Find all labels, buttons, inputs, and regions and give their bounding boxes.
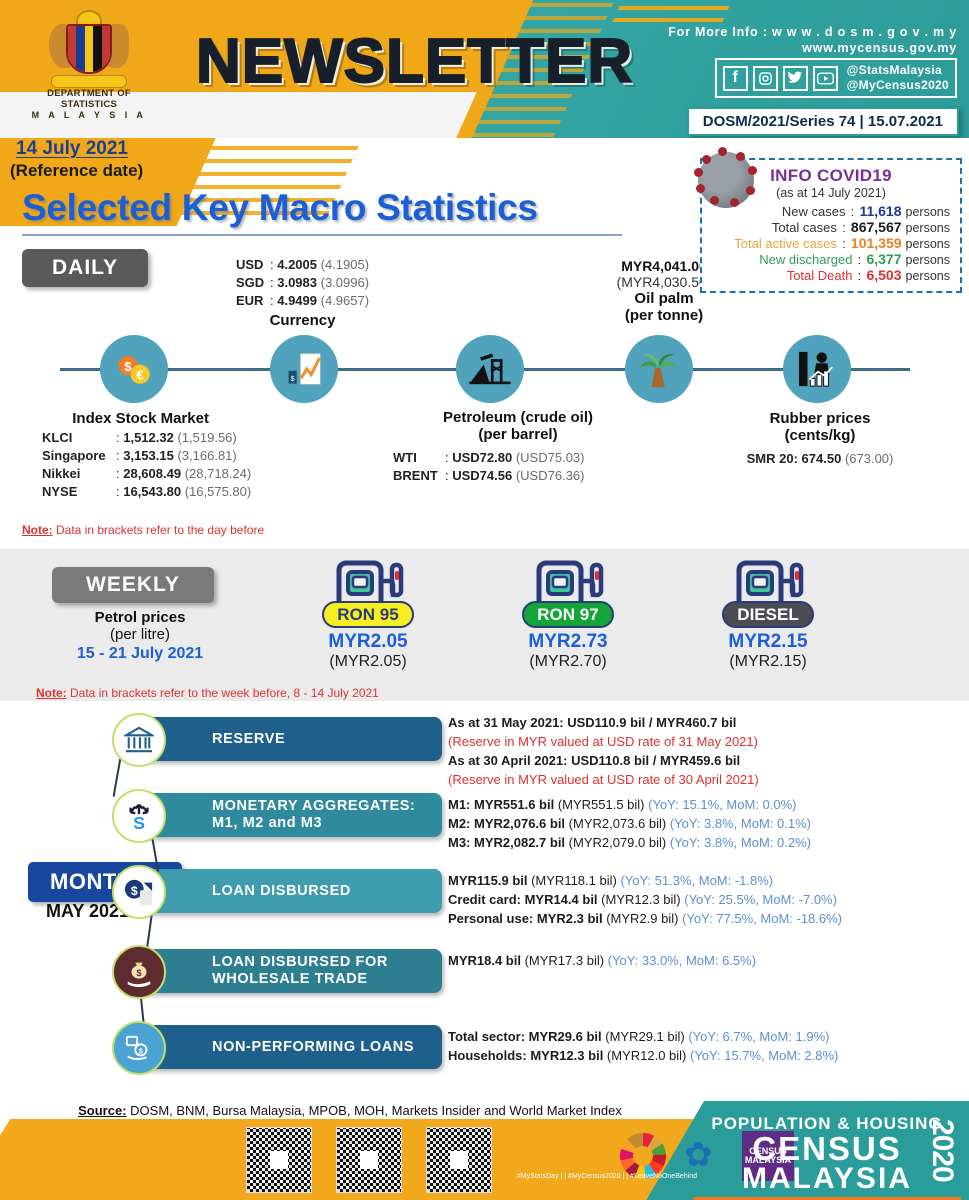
census-year: 2020 (925, 1119, 959, 1182)
covid-row: Total active cases:101,359persons (712, 235, 950, 251)
covid-row-unit: persons (906, 237, 950, 251)
value-change: (YoY: 51.3%, MoM: -1.8%) (617, 873, 773, 888)
metric-label: WTI (393, 449, 445, 467)
value-previous: (MYR2,073.6 bil) (565, 816, 666, 831)
value-bold: Credit card: MYR14.4 bil (448, 892, 598, 907)
value-previous: (MYR551.5 bil) (554, 797, 644, 812)
covid-row-value: 11,618 (859, 203, 901, 219)
metric-label: Nikkei (42, 465, 116, 483)
metric-previous: (USD76.36) (516, 468, 585, 483)
monthly-value-line: Personal use: MYR2.3 bil (MYR2.9 bil) (Y… (448, 909, 842, 928)
rubber-heading-1: Rubber prices (700, 410, 940, 427)
more-info-line2: www.mycensus.gov.my (668, 40, 957, 56)
petroleum-heading-1: Petroleum (crude oil) (393, 409, 643, 426)
metric-row: SGD: 3.0983 (3.0996) (236, 274, 369, 292)
svg-text:€: € (136, 368, 144, 383)
metric-label: EUR (236, 292, 270, 310)
monthly-value-line: MYR115.9 bil (MYR118.1 bil) (YoY: 51.3%,… (448, 871, 842, 890)
youtube-icon[interactable] (813, 66, 838, 91)
metric-label: NYSE (42, 483, 116, 501)
monthly-item-values: MYR18.4 bil (MYR17.3 bil) (YoY: 33.0%, M… (448, 951, 756, 970)
value-previous: (MYR29.1 bil) (602, 1029, 685, 1044)
fuel-type-pill: RON 95 (322, 601, 414, 628)
covid-row-label: Total Death (787, 268, 853, 283)
covid-row-value: 101,359 (851, 235, 902, 251)
value-bold: Households: MYR12.3 bil (448, 1048, 603, 1063)
qr-code-dosm[interactable] (246, 1127, 312, 1193)
census-line2: CENSUS (693, 1133, 961, 1164)
weekly-badge: WEEKLY (52, 567, 214, 603)
monthly-item-values: M1: MYR551.6 bil (MYR551.5 bil) (YoY: 15… (448, 795, 811, 852)
metric-label: KLCI (42, 429, 116, 447)
source-line: Source: DOSM, BNM, Bursa Malaysia, MPOB,… (0, 1103, 700, 1118)
metric-previous: (4.1905) (321, 257, 369, 272)
petrol-title-2: (per litre) (40, 626, 240, 643)
metric-row: WTI: USD72.80 (USD75.03) (393, 449, 643, 467)
metric-value: 4.2005 (277, 257, 317, 272)
value-previous: (MYR2,079.0 bil) (565, 835, 666, 850)
fuel-price-card: RON 95MYR2.05(MYR2.05) (320, 559, 416, 671)
page-footer: Source: DOSM, BNM, Bursa Malaysia, MPOB,… (0, 1101, 969, 1200)
value-change: (YoY: 15.7%, MoM: 2.8%) (686, 1048, 838, 1063)
value-previous: (MYR12.3 bil) (598, 892, 681, 907)
monthly-item-pill[interactable]: LOAN DISBURSED (140, 869, 442, 913)
weekly-note: Note: Data in brackets refer to the week… (36, 686, 379, 700)
monthly-item-values: Total sector: MYR29.6 bil (MYR29.1 bil) … (448, 1027, 838, 1065)
source-text: DOSM, BNM, Bursa Malaysia, MPOB, MOH, Ma… (127, 1103, 622, 1118)
census-2020-logo: POPULATION & HOUSING CENSUS MALAYSIA YOU… (693, 1115, 961, 1200)
fuel-price-previous: (MYR2.05) (320, 653, 416, 671)
value-previous: (MYR12.0 bil) (603, 1048, 686, 1063)
metric-previous: (4.9657) (321, 293, 369, 308)
bank-icon (112, 713, 166, 767)
monthly-item-values: MYR115.9 bil (MYR118.1 bil) (YoY: 51.3%,… (448, 871, 842, 928)
page-title: Selected Key Macro Statistics (22, 187, 538, 229)
monthly-value-line: As at 30 April 2021: USD110.8 bil / MYR4… (448, 751, 759, 770)
covid-row-colon: : (837, 220, 851, 235)
money-supply-icon: S (112, 789, 166, 843)
currency-exchange-icon: $ € (100, 335, 168, 403)
more-info-line1: For More Info : w w w . d o s m . g o v … (668, 24, 957, 40)
fuel-price: MYR2.73 (520, 631, 616, 653)
metric-value: 28,608.49 (123, 466, 181, 481)
handle-statsmalaysia: @StatsMalaysia (847, 63, 949, 78)
monthly-value-line: MYR18.4 bil (MYR17.3 bil) (YoY: 33.0%, M… (448, 951, 756, 970)
rubber-smr20-row: SMR 20: 674.50 (673.00) (700, 450, 940, 468)
monthly-value-line: (Reserve in MYR valued at USD rate of 30… (448, 770, 759, 789)
source-label: Source: (78, 1103, 126, 1118)
qr-code-mycensus[interactable] (426, 1127, 492, 1193)
reference-date-label: (Reference date) (10, 161, 143, 181)
monthly-value-line: (Reserve in MYR valued at USD rate of 31… (448, 732, 759, 751)
metric-row: KLCI: 1,512.32 (1,519.56) (42, 429, 251, 447)
covid-info-panel: INFO COVID19 (as at 14 July 2021) New ca… (700, 158, 962, 293)
petroleum-heading-2: (per barrel) (393, 426, 643, 443)
covid-row-label: Total active cases (734, 236, 837, 251)
monthly-item: NON-PERFORMING LOANS$ (112, 1025, 442, 1071)
metric-label: Singapore (42, 447, 116, 465)
monthly-value-line: M2: MYR2,076.6 bil (MYR2,073.6 bil) (YoY… (448, 814, 811, 833)
monthly-value-line: Households: MYR12.3 bil (MYR12.0 bil) (Y… (448, 1046, 838, 1065)
covid-row: New discharged:6,377persons (712, 251, 950, 267)
monthly-item-pill[interactable]: NON-PERFORMING LOANS (140, 1025, 442, 1069)
value-previous: (MYR17.3 bil) (521, 953, 604, 968)
monthly-item: MONETARY AGGREGATES:M1, M2 and M3S (112, 793, 442, 839)
monthly-item-label: MONETARY AGGREGATES:M1, M2 and M3 (212, 798, 415, 832)
rubber-tapping-icon (783, 335, 851, 403)
metric-value: 4.9499 (277, 293, 317, 308)
monthly-value-line: M1: MYR551.6 bil (MYR551.5 bil) (YoY: 15… (448, 795, 811, 814)
rubber-value: 674.50 (802, 451, 842, 466)
value-previous: (MYR118.1 bil) (527, 873, 616, 888)
twitter-icon[interactable] (783, 66, 808, 91)
fuel-price-card: RON 97MYR2.73(MYR2.70) (520, 559, 616, 671)
coronavirus-icon (698, 152, 754, 208)
facebook-icon[interactable]: f (723, 66, 748, 91)
metric-row: EUR: 4.9499 (4.9657) (236, 292, 369, 310)
svg-text:$: $ (131, 884, 138, 898)
value-bold: Personal use: MYR2.3 bil (448, 911, 603, 926)
monthly-item-pill[interactable]: MONETARY AGGREGATES:M1, M2 and M3 (140, 793, 442, 837)
org-name-line2: M A L A Y S I A (24, 110, 154, 120)
covid-row-value: 6,377 (866, 251, 901, 267)
monthly-item-pill[interactable]: RESERVE (140, 717, 442, 761)
series-number-badge: DOSM/2021/Series 74 | 15.07.2021 (687, 107, 959, 136)
metric-value: USD74.56 (452, 468, 512, 483)
value-bold: M3: MYR2,082.7 bil (448, 835, 565, 850)
value-bold: As at 30 April 2021: USD110.8 bil / MYR4… (448, 753, 740, 768)
newsletter-wordmark: NEWSLETTER (196, 26, 633, 97)
oil-pump-icon (456, 335, 524, 403)
currency-values: USD: 4.2005 (4.1905)SGD: 3.0983 (3.0996)… (236, 256, 369, 329)
value-bold: M1: MYR551.6 bil (448, 797, 554, 812)
covid-row-unit: persons (906, 205, 950, 219)
metric-previous: (16,575.80) (185, 484, 252, 499)
more-info-block: For More Info : w w w . d o s m . g o v … (668, 24, 957, 56)
loan-money-icon: $ (112, 865, 166, 919)
rubber-prev: (673.00) (845, 451, 893, 466)
covid-row: Total cases:867,567persons (712, 219, 950, 235)
org-name-line1: DEPARTMENT OF STATISTICS (24, 88, 154, 110)
monthly-item: LOAN DISBURSED$ (112, 869, 442, 915)
metric-previous: (3.0996) (321, 275, 369, 290)
covid-row-label: Total cases (772, 220, 837, 235)
metric-value: 3.0983 (277, 275, 317, 290)
covid-row-label: New cases (782, 204, 846, 219)
covid-row-label: New discharged (759, 252, 852, 267)
covid-row-unit: persons (906, 253, 950, 267)
value-change: (YoY: 15.1%, MoM: 0.0%) (645, 797, 797, 812)
monthly-section: MONTHLY MAY 2021 RESERVEAs at 31 May 202… (0, 701, 969, 1101)
monthly-item: RESERVE (112, 717, 442, 763)
daily-note: Note: Data in brackets refer to the day … (22, 523, 264, 537)
metric-value: 1,512.32 (123, 430, 174, 445)
fuel-price-card: DIESELMYR2.15(MYR2.15) (720, 559, 816, 671)
oilpalm-heading-2: (per tonne) (590, 307, 738, 324)
currency-heading: Currency (236, 312, 369, 329)
footer-hashtags: #MyStatsDay | | #MyCensus2020 | | #Leave… (517, 1173, 697, 1180)
fuel-price: MYR2.15 (720, 631, 816, 653)
metric-label: SGD (236, 274, 270, 292)
metric-row: Singapore: 3,153.15 (3,166.81) (42, 447, 251, 465)
monthly-item-label: LOAN DISBURSED FORWHOLESALE TRADE (212, 954, 388, 988)
daily-badge: DAILY (22, 249, 148, 287)
value-change: (YoY: 3.8%, MoM: 0.1%) (666, 816, 811, 831)
value-change: (YoY: 33.0%, MoM: 6.5%) (604, 953, 756, 968)
census-line3: MALAYSIA (693, 1164, 961, 1194)
fuel-price-previous: (MYR2.15) (720, 653, 816, 671)
metric-label: USD (236, 256, 270, 274)
weekly-note-text: Data in brackets refer to the week befor… (67, 686, 379, 700)
title-divider (22, 234, 622, 236)
petrol-title-1: Petrol prices (40, 609, 240, 626)
monthly-item: LOAN DISBURSED FORWHOLESALE TRADE$ (112, 949, 442, 995)
money-bag-hand-icon: $ (112, 945, 166, 999)
monthly-value-line: Credit card: MYR14.4 bil (MYR12.3 bil) (… (448, 890, 842, 909)
covid-row-colon: : (852, 268, 866, 283)
covid-row-unit: persons (906, 269, 950, 283)
rubber-heading-2: (cents/kg) (700, 427, 940, 444)
value-note: (Reserve in MYR valued at USD rate of 31… (448, 734, 758, 749)
metric-value: USD72.80 (452, 450, 512, 465)
svg-text:$: $ (136, 968, 142, 978)
monthly-value-line: As at 31 May 2021: USD110.9 bil / MYR460… (448, 713, 759, 732)
rubber-values: Rubber prices (cents/kg) SMR 20: 674.50 … (700, 410, 940, 468)
loan-transfer-icon: $ (112, 1021, 166, 1075)
fuel-price: MYR2.05 (320, 631, 416, 653)
metric-label: BRENT (393, 467, 445, 485)
value-note: (Reserve in MYR valued at USD rate of 30… (448, 772, 759, 787)
value-change: (YoY: 25.5%, MoM: -7.0%) (681, 892, 837, 907)
value-bold: MYR115.9 bil (448, 873, 527, 888)
petrol-period: 15 - 21 July 2021 (40, 645, 240, 663)
value-bold: M2: MYR2,076.6 bil (448, 816, 565, 831)
metric-previous: (USD75.03) (516, 450, 585, 465)
monthly-item-label: RESERVE (212, 731, 285, 748)
dosm-logo: DEPARTMENT OF STATISTICS M A L A Y S I A (24, 8, 154, 120)
weekly-note-word: Note: (36, 686, 67, 700)
monthly-item-values: As at 31 May 2021: USD110.9 bil / MYR460… (448, 713, 759, 789)
petroleum-values: Petroleum (crude oil) (per barrel) WTI: … (393, 409, 643, 485)
value-bold: MYR18.4 bil (448, 953, 521, 968)
value-change: (YoY: 77.5%, MoM: -18.6%) (678, 911, 842, 926)
monthly-item-label: NON-PERFORMING LOANS (212, 1039, 414, 1056)
covid-row-colon: : (852, 252, 866, 267)
stock-values: Index Stock Market KLCI: 1,512.32 (1,519… (30, 410, 251, 501)
palm-tree-icon (625, 335, 693, 403)
instagram-icon[interactable] (753, 66, 778, 91)
monthly-item-label: LOAN DISBURSED (212, 883, 351, 900)
daily-note-text: Data in brackets refer to the day before (53, 523, 264, 537)
monthly-item-pill[interactable]: LOAN DISBURSED FORWHOLESALE TRADE (140, 949, 442, 993)
covid-row: Total Death:6,503persons (712, 267, 950, 283)
metric-previous: (1,519.56) (177, 430, 236, 445)
value-bold: Total sector: MYR29.6 bil (448, 1029, 602, 1044)
daily-note-word: Note: (22, 523, 53, 537)
covid-row-value: 867,567 (851, 219, 902, 235)
fuel-type-pill: RON 97 (522, 601, 614, 628)
value-previous: (MYR2.9 bil) (603, 911, 679, 926)
value-change: (YoY: 3.8%, MoM: 0.2%) (666, 835, 811, 850)
stock-heading: Index Stock Market (30, 410, 251, 427)
monthly-value-line: Total sector: MYR29.6 bil (MYR29.1 bil) … (448, 1027, 838, 1046)
weekly-section: WEEKLY Petrol prices (per litre) 15 - 21… (0, 549, 969, 701)
metric-value: 3,153.15 (123, 448, 174, 463)
svg-text:S: S (133, 813, 145, 831)
metric-previous: (3,166.81) (177, 448, 236, 463)
fuel-type-pill: DIESEL (722, 601, 814, 628)
malaysia-coat-of-arms-icon (45, 8, 133, 90)
metric-row: USD: 4.2005 (4.1905) (236, 256, 369, 274)
qr-code-facebook[interactable] (336, 1127, 402, 1193)
reference-date: 14 July 2021 (16, 138, 128, 160)
value-change: (YoY: 6.7%, MoM: 1.9%) (685, 1029, 830, 1044)
covid-row-colon: : (845, 204, 859, 219)
metric-previous: (28,718.24) (185, 466, 252, 481)
fuel-price-previous: (MYR2.70) (520, 653, 616, 671)
page-header: DEPARTMENT OF STATISTICS M A L A Y S I A… (0, 0, 969, 138)
monthly-value-line: M3: MYR2,082.7 bil (MYR2,079.0 bil) (YoY… (448, 833, 811, 852)
rubber-label: SMR 20: (747, 451, 798, 466)
covid-row-value: 6,503 (866, 267, 901, 283)
stock-chart-icon: $ (270, 335, 338, 403)
handle-mycensus: @MyCensus2020 (847, 78, 949, 93)
covid-row-unit: persons (906, 221, 950, 235)
metric-value: 16,543.80 (123, 484, 181, 499)
weekly-title-block: Petrol prices (per litre) 15 - 21 July 2… (40, 609, 240, 663)
covid-row-colon: : (837, 236, 851, 251)
metric-row: Nikkei: 28,608.49 (28,718.24) (42, 465, 251, 483)
metric-row: NYSE: 16,543.80 (16,575.80) (42, 483, 251, 501)
value-bold: As at 31 May 2021: USD110.9 bil / MYR460… (448, 715, 736, 730)
social-media-box[interactable]: f @StatsMalaysia @MyCensus2020 (715, 58, 957, 98)
covid-row: New cases:11,618persons (712, 203, 950, 219)
svg-text:$: $ (291, 374, 295, 383)
metric-row: BRENT: USD74.56 (USD76.36) (393, 467, 643, 485)
